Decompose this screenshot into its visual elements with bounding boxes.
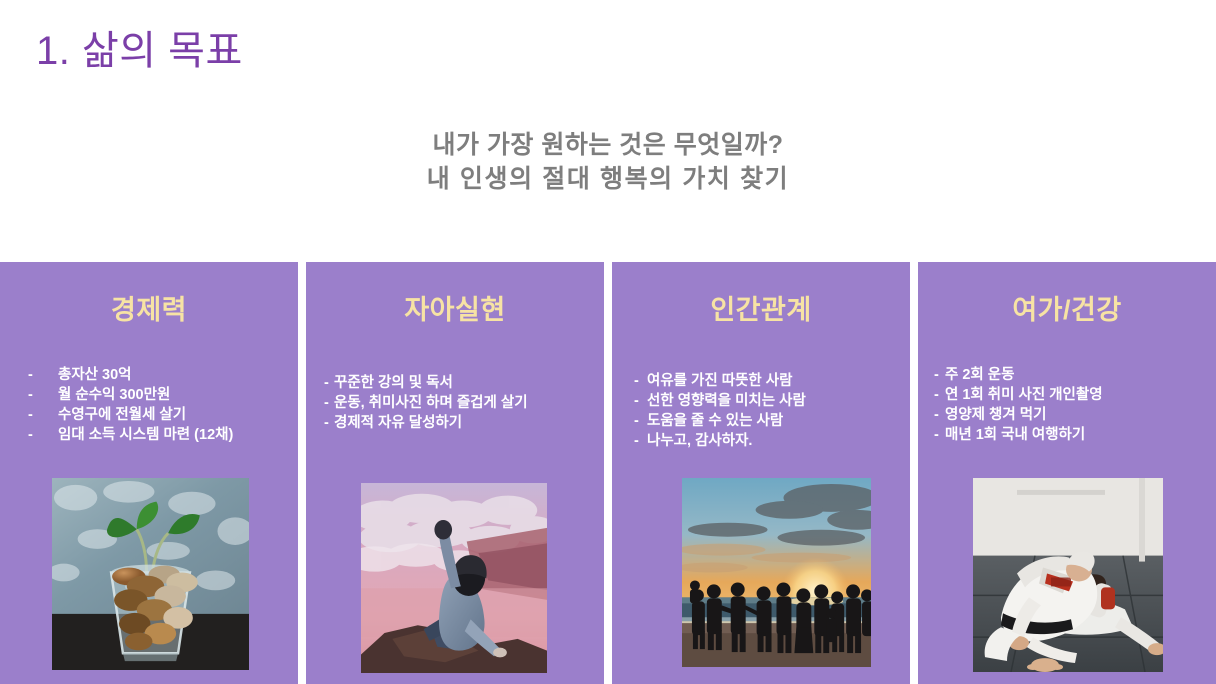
bullet-text: 나누고, 감사하자. — [647, 431, 752, 451]
list-item: - 나누고, 감사하자. — [634, 431, 910, 451]
list-item: - 경제적 자유 달성하기 — [324, 413, 604, 433]
bullet-dash: - — [324, 413, 334, 433]
bullet-dash: - — [934, 425, 945, 445]
bullet-text: 꾸준한 강의 및 독서 — [334, 373, 453, 393]
bullet-text: 주 2회 운동 — [945, 365, 1014, 385]
slide-title: 1. 삶의 목표 — [36, 18, 243, 76]
bullet-text: 총자산 30억 — [58, 365, 132, 385]
list-item: - 여유를 가진 따뜻한 사람 — [634, 371, 910, 391]
bullet-text: 여유를 가진 따뜻한 사람 — [647, 371, 793, 391]
card-heading-self-realization: 자아실현 — [306, 288, 604, 327]
bullet-list-self-realization: - 꾸준한 강의 및 독서 - 운동, 취미사진 하며 즐겁게 살기 - 경제적… — [306, 373, 604, 433]
bullet-list-relationships: - 여유를 가진 따뜻한 사람 - 선한 영향력을 미치는 사람 - 도움을 줄… — [612, 371, 910, 451]
bullet-dash: - — [634, 371, 647, 391]
card-heading-economy: 경제력 — [0, 288, 298, 327]
goal-card-economy[interactable]: 경제력 - 총자산 30억 - 월 순수익 300만원 - 수영구에 전월세 살… — [0, 262, 298, 684]
list-item: - 임대 소득 시스템 마련 (12채) — [28, 425, 298, 445]
bullet-list-economy: - 총자산 30억 - 월 순수익 300만원 - 수영구에 전월세 살기 - … — [0, 365, 298, 445]
bullet-text: 운동, 취미사진 하며 즐겁게 살기 — [334, 393, 528, 413]
list-item: - 연 1회 취미 사진 개인촬영 — [934, 385, 1216, 405]
bullet-text: 선한 영향력을 미치는 사람 — [647, 391, 806, 411]
bullet-dash: - — [28, 365, 58, 385]
goal-card-leisure-health[interactable]: 여가/건강 - 주 2회 운동 - 연 1회 취미 사진 개인촬영 - 영양제 … — [918, 262, 1216, 684]
list-item: - 월 순수익 300만원 — [28, 385, 298, 405]
list-item: - 주 2회 운동 — [934, 365, 1216, 385]
goal-card-relationships[interactable]: 인간관계 - 여유를 가진 따뜻한 사람 - 선한 영향력을 미치는 사람 - … — [612, 262, 910, 684]
bullet-text: 매년 1회 국내 여행하기 — [945, 425, 1085, 445]
bullet-text: 임대 소득 시스템 마련 (12채) — [58, 425, 233, 445]
goal-card-self-realization[interactable]: 자아실현 - 꾸준한 강의 및 독서 - 운동, 취미사진 하며 즐겁게 살기 … — [306, 262, 604, 684]
list-item: - 꾸준한 강의 및 독서 — [324, 373, 604, 393]
card-heading-leisure-health: 여가/건강 — [918, 288, 1216, 327]
bullet-text: 경제적 자유 달성하기 — [334, 413, 462, 433]
list-item: - 운동, 취미사진 하며 즐겁게 살기 — [324, 393, 604, 413]
bullet-dash: - — [324, 393, 334, 413]
bullet-text: 도움을 줄 수 있는 사람 — [647, 411, 783, 431]
beach-sunset-group-photo — [682, 478, 871, 667]
list-item: - 도움을 줄 수 있는 사람 — [634, 411, 910, 431]
subtitle-line-1: 내가 가장 원하는 것은 무엇일까? — [0, 128, 1216, 162]
list-item: - 총자산 30억 — [28, 365, 298, 385]
bullet-text: 영양제 챙겨 먹기 — [945, 405, 1046, 425]
list-item: - 선한 영향력을 미치는 사람 — [634, 391, 910, 411]
jiu-jitsu-training-photo — [973, 478, 1163, 672]
bullet-dash: - — [324, 373, 334, 393]
goal-card-row: 경제력 - 총자산 30억 - 월 순수익 300만원 - 수영구에 전월세 살… — [0, 262, 1216, 684]
subtitle-line-2: 내 인생의 절대 행복의 가치 찾기 — [0, 162, 1216, 196]
list-item: - 영양제 챙겨 먹기 — [934, 405, 1216, 425]
bullet-dash: - — [28, 385, 58, 405]
card-heading-relationships: 인간관계 — [612, 288, 910, 327]
bullet-dash: - — [28, 425, 58, 445]
bullet-list-leisure-health: - 주 2회 운동 - 연 1회 취미 사진 개인촬영 - 영양제 챙겨 먹기 … — [918, 365, 1216, 445]
list-item: - 수영구에 전월세 살기 — [28, 405, 298, 425]
mountain-victory-photo — [361, 483, 547, 673]
bullet-dash: - — [934, 405, 945, 425]
bullet-text: 연 1회 취미 사진 개인촬영 — [945, 385, 1103, 405]
bullet-dash: - — [934, 365, 945, 385]
bullet-text: 수영구에 전월세 살기 — [58, 405, 186, 425]
slide-subtitle: 내가 가장 원하는 것은 무엇일까? 내 인생의 절대 행복의 가치 찾기 — [0, 128, 1216, 196]
coins-plant-photo — [52, 478, 249, 670]
bullet-dash: - — [28, 405, 58, 425]
list-item: - 매년 1회 국내 여행하기 — [934, 425, 1216, 445]
bullet-text: 월 순수익 300만원 — [58, 385, 170, 405]
bullet-dash: - — [634, 431, 647, 451]
bullet-dash: - — [934, 385, 945, 405]
bullet-dash: - — [634, 411, 647, 431]
bullet-dash: - — [634, 391, 647, 411]
